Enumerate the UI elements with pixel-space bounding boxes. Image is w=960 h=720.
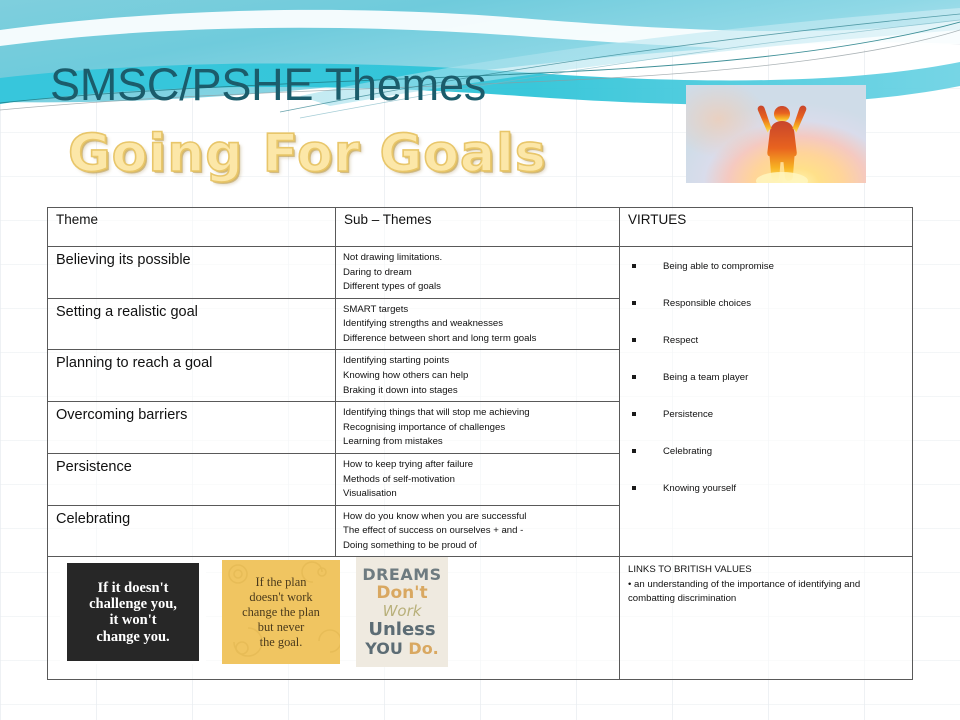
sub-themes-cell: SMART targets Identifying strengths and … <box>336 298 620 350</box>
sub-theme-item: Identifying starting points <box>343 354 613 369</box>
square-bullet-icon <box>632 486 636 490</box>
list-item: Persistence <box>626 409 906 446</box>
theme-cell: Believing its possible <box>48 247 336 299</box>
virtue-label: Celebrating <box>663 446 712 458</box>
poster-line: Don't <box>376 585 427 602</box>
poster-line: Unless <box>368 621 435 639</box>
page-title: SMSC/PSHE Themes <box>50 62 486 107</box>
sub-theme-list: How do you know when you are successful … <box>336 506 619 557</box>
poster-if-the-plan-doesnt-work: If the plan doesn't work change the plan… <box>222 560 340 664</box>
person-arms-raised-sunset-photo <box>686 85 866 183</box>
virtue-label: Being able to compromise <box>663 261 774 273</box>
sub-theme-item: Difference between short and long term g… <box>343 332 613 347</box>
poster-line: doesn't work <box>242 590 320 605</box>
theme-label: Planning to reach a goal <box>48 350 335 372</box>
poster-dreams-dont-work-unless-you-do: DREAMS Don't Work Unless YOU Do. <box>356 557 448 667</box>
theme-cell: Setting a realistic goal <box>48 298 336 350</box>
header-cell-theme: Theme <box>48 208 336 247</box>
virtue-label: Persistence <box>663 409 713 421</box>
poster-line: YOU <box>365 639 408 658</box>
header-label-virtues: VIRTUES <box>620 208 912 233</box>
square-bullet-icon <box>632 301 636 305</box>
british-values-heading: LINKS TO BRITISH VALUES <box>628 563 902 577</box>
sub-theme-item: Recognising importance of challenges <box>343 421 613 436</box>
wordart-subtitle: Going For Goals <box>68 128 547 180</box>
list-item: Being a team player <box>626 372 906 409</box>
sub-theme-item: The effect of success on ourselves + and… <box>343 524 613 539</box>
list-item: Respect <box>626 335 906 372</box>
sub-theme-item: Daring to dream <box>343 266 613 281</box>
sub-theme-item: How do you know when you are successful <box>343 510 613 525</box>
square-bullet-icon <box>632 338 636 342</box>
sub-themes-cell: How do you know when you are successful … <box>336 505 620 557</box>
sub-theme-item: Doing something to be proud of <box>343 539 613 554</box>
sub-theme-item: SMART targets <box>343 303 613 318</box>
theme-cell: Celebrating <box>48 505 336 557</box>
sub-theme-item: Braking it down into stages <box>343 384 613 399</box>
sub-theme-list: How to keep trying after failure Methods… <box>336 454 619 505</box>
theme-cell: Overcoming barriers <box>48 402 336 454</box>
poster-line: If it doesn't <box>89 580 177 596</box>
smsc-themes-table: Theme Sub – Themes VIRTUES Believing its… <box>47 207 913 680</box>
poster-strip: If it doesn't challenge you, it won't ch… <box>48 557 619 667</box>
poster-line: If the plan <box>242 575 320 590</box>
theme-label: Persistence <box>48 454 335 476</box>
theme-label: Overcoming barriers <box>48 402 335 424</box>
header-label-sub-themes: Sub – Themes <box>336 208 619 233</box>
sub-themes-cell: Identifying starting points Knowing how … <box>336 350 620 402</box>
square-bullet-icon <box>632 449 636 453</box>
sub-theme-list: Not drawing limitations. Daring to dream… <box>336 247 619 298</box>
theme-label: Setting a realistic goal <box>48 299 335 321</box>
sub-theme-item: Identifying strengths and weaknesses <box>343 317 613 332</box>
list-item: Responsible choices <box>626 298 906 335</box>
sub-theme-item: Visualisation <box>343 487 613 502</box>
sub-themes-cell: Identifying things that will stop me ach… <box>336 402 620 454</box>
list-item: Celebrating <box>626 446 906 483</box>
british-values-block: LINKS TO BRITISH VALUES • an understandi… <box>620 557 912 612</box>
british-values-bullet: • an understanding of the importance of … <box>628 578 902 607</box>
sub-theme-item: Different types of goals <box>343 280 613 295</box>
sub-themes-cell: How to keep trying after failure Methods… <box>336 453 620 505</box>
british-values-cell: LINKS TO BRITISH VALUES • an understandi… <box>620 557 913 680</box>
list-item: Being able to compromise <box>626 261 906 298</box>
sub-theme-item: Methods of self-motivation <box>343 473 613 488</box>
sub-theme-list: SMART targets Identifying strengths and … <box>336 299 619 350</box>
square-bullet-icon <box>632 264 636 268</box>
table-row: Believing its possible Not drawing limit… <box>48 247 913 299</box>
virtue-label: Respect <box>663 335 698 347</box>
virtues-list: Being able to compromise Responsible cho… <box>620 247 912 526</box>
table-header-row: Theme Sub – Themes VIRTUES <box>48 208 913 247</box>
virtue-label: Being a team player <box>663 372 748 384</box>
posters-cell: If it doesn't challenge you, it won't ch… <box>48 557 620 680</box>
poster-line: Work <box>383 604 422 619</box>
square-bullet-icon <box>632 375 636 379</box>
poster-line: DREAMS <box>362 567 441 583</box>
poster-line: the goal. <box>242 635 320 650</box>
table-row-posters: If it doesn't challenge you, it won't ch… <box>48 557 913 680</box>
poster-if-it-doesnt-challenge-you: If it doesn't challenge you, it won't ch… <box>60 560 206 664</box>
sub-theme-item: How to keep trying after failure <box>343 458 613 473</box>
list-item: Knowing yourself <box>626 483 906 520</box>
poster-line: but never <box>242 620 320 635</box>
virtue-label: Responsible choices <box>663 298 751 310</box>
sub-theme-item: Learning from mistakes <box>343 435 613 450</box>
sub-theme-list: Identifying things that will stop me ach… <box>336 402 619 453</box>
sub-themes-cell: Not drawing limitations. Daring to dream… <box>336 247 620 299</box>
poster-line: it won't <box>89 612 177 628</box>
virtue-label: Knowing yourself <box>663 483 736 495</box>
sub-theme-list: Identifying starting points Knowing how … <box>336 350 619 401</box>
theme-cell: Persistence <box>48 453 336 505</box>
theme-label: Believing its possible <box>48 247 335 269</box>
poster-quote: If the plan doesn't work change the plan… <box>242 575 320 651</box>
header-cell-sub-themes: Sub – Themes <box>336 208 620 247</box>
poster-line: challenge you, <box>89 596 177 612</box>
square-bullet-icon <box>632 412 636 416</box>
header-cell-virtues: VIRTUES <box>620 208 913 247</box>
poster-line: change the plan <box>242 605 320 620</box>
poster-quote: If it doesn't challenge you, it won't ch… <box>89 580 177 645</box>
poster-line: Do. <box>408 639 438 658</box>
poster-line: change you. <box>89 629 177 645</box>
theme-label: Celebrating <box>48 506 335 528</box>
sub-theme-item: Identifying things that will stop me ach… <box>343 406 613 421</box>
header-label-theme: Theme <box>48 208 335 233</box>
sub-theme-item: Knowing how others can help <box>343 369 613 384</box>
poster-line-youdo: YOU Do. <box>365 641 439 657</box>
sub-theme-item: Not drawing limitations. <box>343 251 613 266</box>
slide-canvas: SMSC/PSHE Themes Going For Goals <box>0 0 960 720</box>
theme-cell: Planning to reach a goal <box>48 350 336 402</box>
virtues-cell: Being able to compromise Responsible cho… <box>620 247 913 557</box>
